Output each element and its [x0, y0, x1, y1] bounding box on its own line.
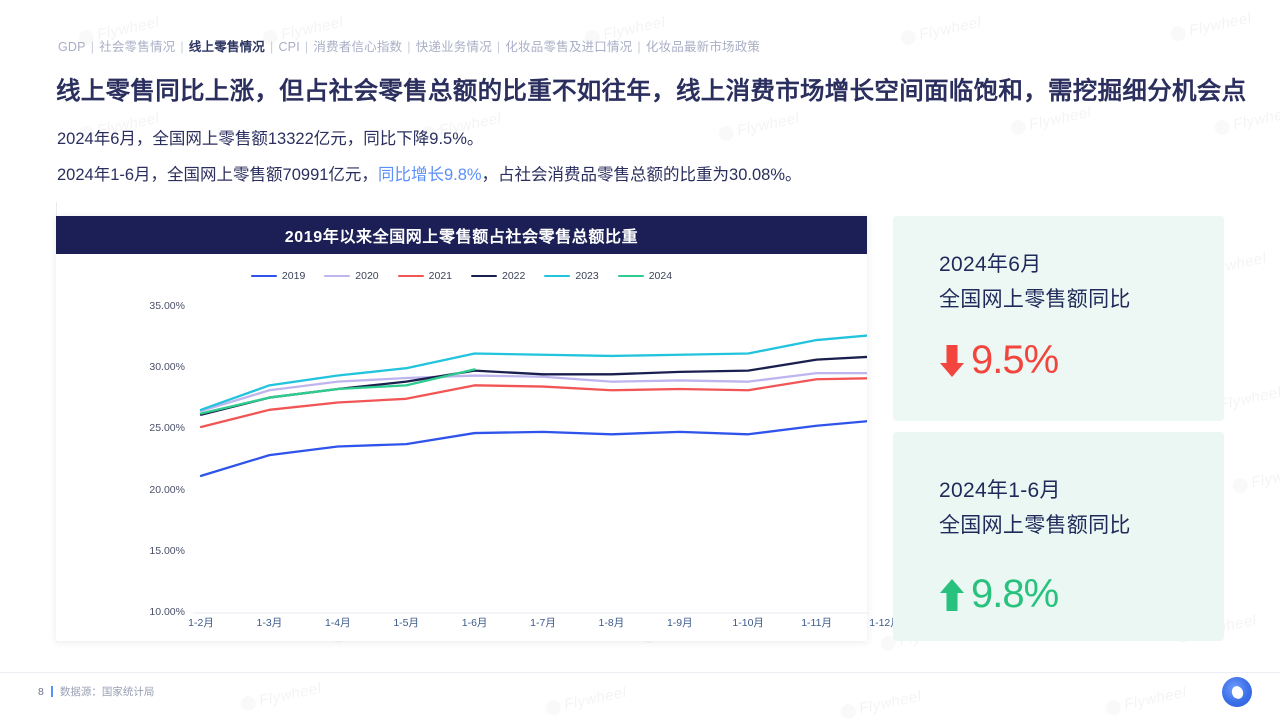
- summary-line-2: 2024年1-6月，全国网上零售额70991亿元，同比增长9.8%，占社会消费品…: [57, 161, 802, 185]
- breadcrumb-separator: |: [86, 40, 99, 54]
- stat-card-cumulative-title-1: 2024年1-6月: [939, 474, 1061, 504]
- summary-line-2-part-b: ，占社会消费品零售总额的比重为30.08%。: [482, 166, 802, 184]
- watermark: Flywheel: [1104, 684, 1188, 718]
- watermark: Flywheel: [239, 680, 323, 714]
- nav-item-3[interactable]: CPI: [278, 40, 299, 54]
- nav-item-1[interactable]: 社会零售情况: [99, 36, 175, 55]
- legend-item-2023[interactable]: 2023: [544, 270, 598, 282]
- x-axis-tick-label: 1-3月: [239, 615, 299, 630]
- legend-swatch-icon: [324, 275, 350, 278]
- watermark: Flywheel: [1009, 104, 1093, 138]
- breadcrumb-separator: |: [265, 40, 278, 54]
- y-axis-tick-label: 35.00%: [127, 300, 185, 312]
- legend-item-2024[interactable]: 2024: [618, 270, 672, 282]
- legend-swatch-icon: [544, 275, 570, 278]
- chart-plot-area: 35.00%30.00%25.00%20.00%15.00%10.00%1-2月…: [56, 290, 867, 641]
- legend-label: 2020: [355, 270, 378, 282]
- summary-line-2-part-a: 2024年1-6月，全国网上零售额70991亿元，: [57, 166, 378, 184]
- legend-swatch-icon: [618, 275, 644, 278]
- footer: 8 数据源：国家统计局: [38, 684, 154, 699]
- stat-card-monthly-value-row: 9.5%: [939, 338, 1058, 383]
- x-axis-tick-label: 1-10月: [718, 615, 778, 630]
- chart-legend[interactable]: 201920202021202220232024: [56, 270, 867, 282]
- nav-item-4[interactable]: 消费者信心指数: [313, 36, 402, 55]
- y-axis-tick-label: 15.00%: [127, 545, 185, 557]
- chart-svg: [56, 290, 867, 641]
- legend-swatch-icon: [471, 275, 497, 278]
- summary-highlight: 同比增长9.8%: [378, 166, 482, 184]
- y-axis-tick-label: 25.00%: [127, 422, 185, 434]
- x-axis-tick-label: 1-7月: [513, 615, 573, 630]
- breadcrumb-separator: |: [492, 40, 505, 54]
- breadcrumb-separator: |: [175, 40, 188, 54]
- stat-card-cumulative-value-row: 9.8%: [939, 572, 1058, 617]
- nav-item-5[interactable]: 快递业务情况: [416, 36, 492, 55]
- legend-label: 2024: [649, 270, 672, 282]
- watermark: Flywheel: [899, 14, 983, 48]
- watermark: Flywheel: [544, 684, 628, 718]
- watermark: Flywheel: [1213, 104, 1280, 138]
- data-source-label: 数据源：国家统计局: [60, 684, 155, 699]
- arrow-down-icon: [939, 341, 965, 381]
- footer-divider: [0, 672, 1280, 673]
- y-axis-tick-label: 20.00%: [127, 484, 185, 496]
- legend-item-2020[interactable]: 2020: [324, 270, 378, 282]
- brand-logo-icon: [1222, 677, 1252, 707]
- page-title: 线上零售同比上涨，但占社会零售总额的比重不如往年，线上消费市场增长空间面临饱和，…: [56, 72, 1246, 107]
- x-axis-tick-label: 1-6月: [445, 615, 505, 630]
- watermark: Flywheel: [1231, 462, 1280, 496]
- watermark: Flywheel: [1169, 10, 1253, 44]
- legend-label: 2022: [502, 270, 525, 282]
- breadcrumb[interactable]: GDP|社会零售情况|线上零售情况|CPI|消费者信心指数|快递业务情况|化妆品…: [58, 36, 760, 55]
- legend-swatch-icon: [398, 275, 424, 278]
- chart-card: 2019年以来全国网上零售额占社会零售总额比重 2019202020212022…: [56, 216, 867, 641]
- watermark: Flywheel: [839, 688, 923, 720]
- chart-title: 2019年以来全国网上零售额占社会零售总额比重: [285, 223, 638, 247]
- legend-item-2022[interactable]: 2022: [471, 270, 525, 282]
- stat-card-cumulative: 2024年1-6月 全国网上零售额同比 9.8%: [893, 432, 1224, 641]
- x-axis-tick-label: 1-8月: [581, 615, 641, 630]
- stat-card-monthly-title-2: 全国网上零售额同比: [939, 283, 1131, 313]
- page-number: 8: [38, 686, 44, 698]
- chart-line-2023: [201, 334, 867, 410]
- breadcrumb-separator: |: [402, 40, 415, 54]
- brand-logo-inner: [1229, 684, 1244, 700]
- stat-card-cumulative-title-2: 全国网上零售额同比: [939, 509, 1131, 539]
- breadcrumb-separator: |: [632, 40, 645, 54]
- watermark: Flywheel: [717, 110, 801, 144]
- stat-card-monthly-title-1: 2024年6月: [939, 248, 1042, 278]
- arrow-up-icon: [939, 575, 965, 615]
- nav-item-6[interactable]: 化妆品零售及进口情况: [505, 36, 632, 55]
- footer-accent-bar: [51, 686, 53, 697]
- x-axis-tick-label: 1-2月: [171, 615, 231, 630]
- stat-card-monthly-value: 9.5%: [971, 338, 1058, 383]
- nav-item-7[interactable]: 化妆品最新市场政策: [646, 36, 760, 55]
- chart-line-2019: [201, 420, 867, 476]
- legend-label: 2019: [282, 270, 305, 282]
- slide-root: FlywheelFlywheelFlywheelFlywheelFlywheel…: [0, 0, 1280, 720]
- nav-item-2[interactable]: 线上零售情况: [189, 36, 265, 55]
- x-axis-tick-label: 1-4月: [308, 615, 368, 630]
- legend-label: 2023: [575, 270, 598, 282]
- y-axis-tick-label: 30.00%: [127, 361, 185, 373]
- x-axis-tick-label: 1-9月: [650, 615, 710, 630]
- summary-line-1: 2024年6月，全国网上零售额13322亿元，同比下降9.5%。: [57, 125, 483, 149]
- breadcrumb-separator: |: [300, 40, 313, 54]
- nav-item-0[interactable]: GDP: [58, 40, 86, 54]
- legend-item-2021[interactable]: 2021: [398, 270, 452, 282]
- chart-title-bar: 2019年以来全国网上零售额占社会零售总额比重: [56, 216, 867, 254]
- stat-card-cumulative-value: 9.8%: [971, 572, 1058, 617]
- x-axis-tick-label: 1-11月: [787, 615, 847, 630]
- stat-card-monthly: 2024年6月 全国网上零售额同比 9.5%: [893, 216, 1224, 421]
- x-axis-tick-label: 1-5月: [376, 615, 436, 630]
- legend-swatch-icon: [251, 275, 277, 278]
- legend-item-2019[interactable]: 2019: [251, 270, 305, 282]
- legend-label: 2021: [429, 270, 452, 282]
